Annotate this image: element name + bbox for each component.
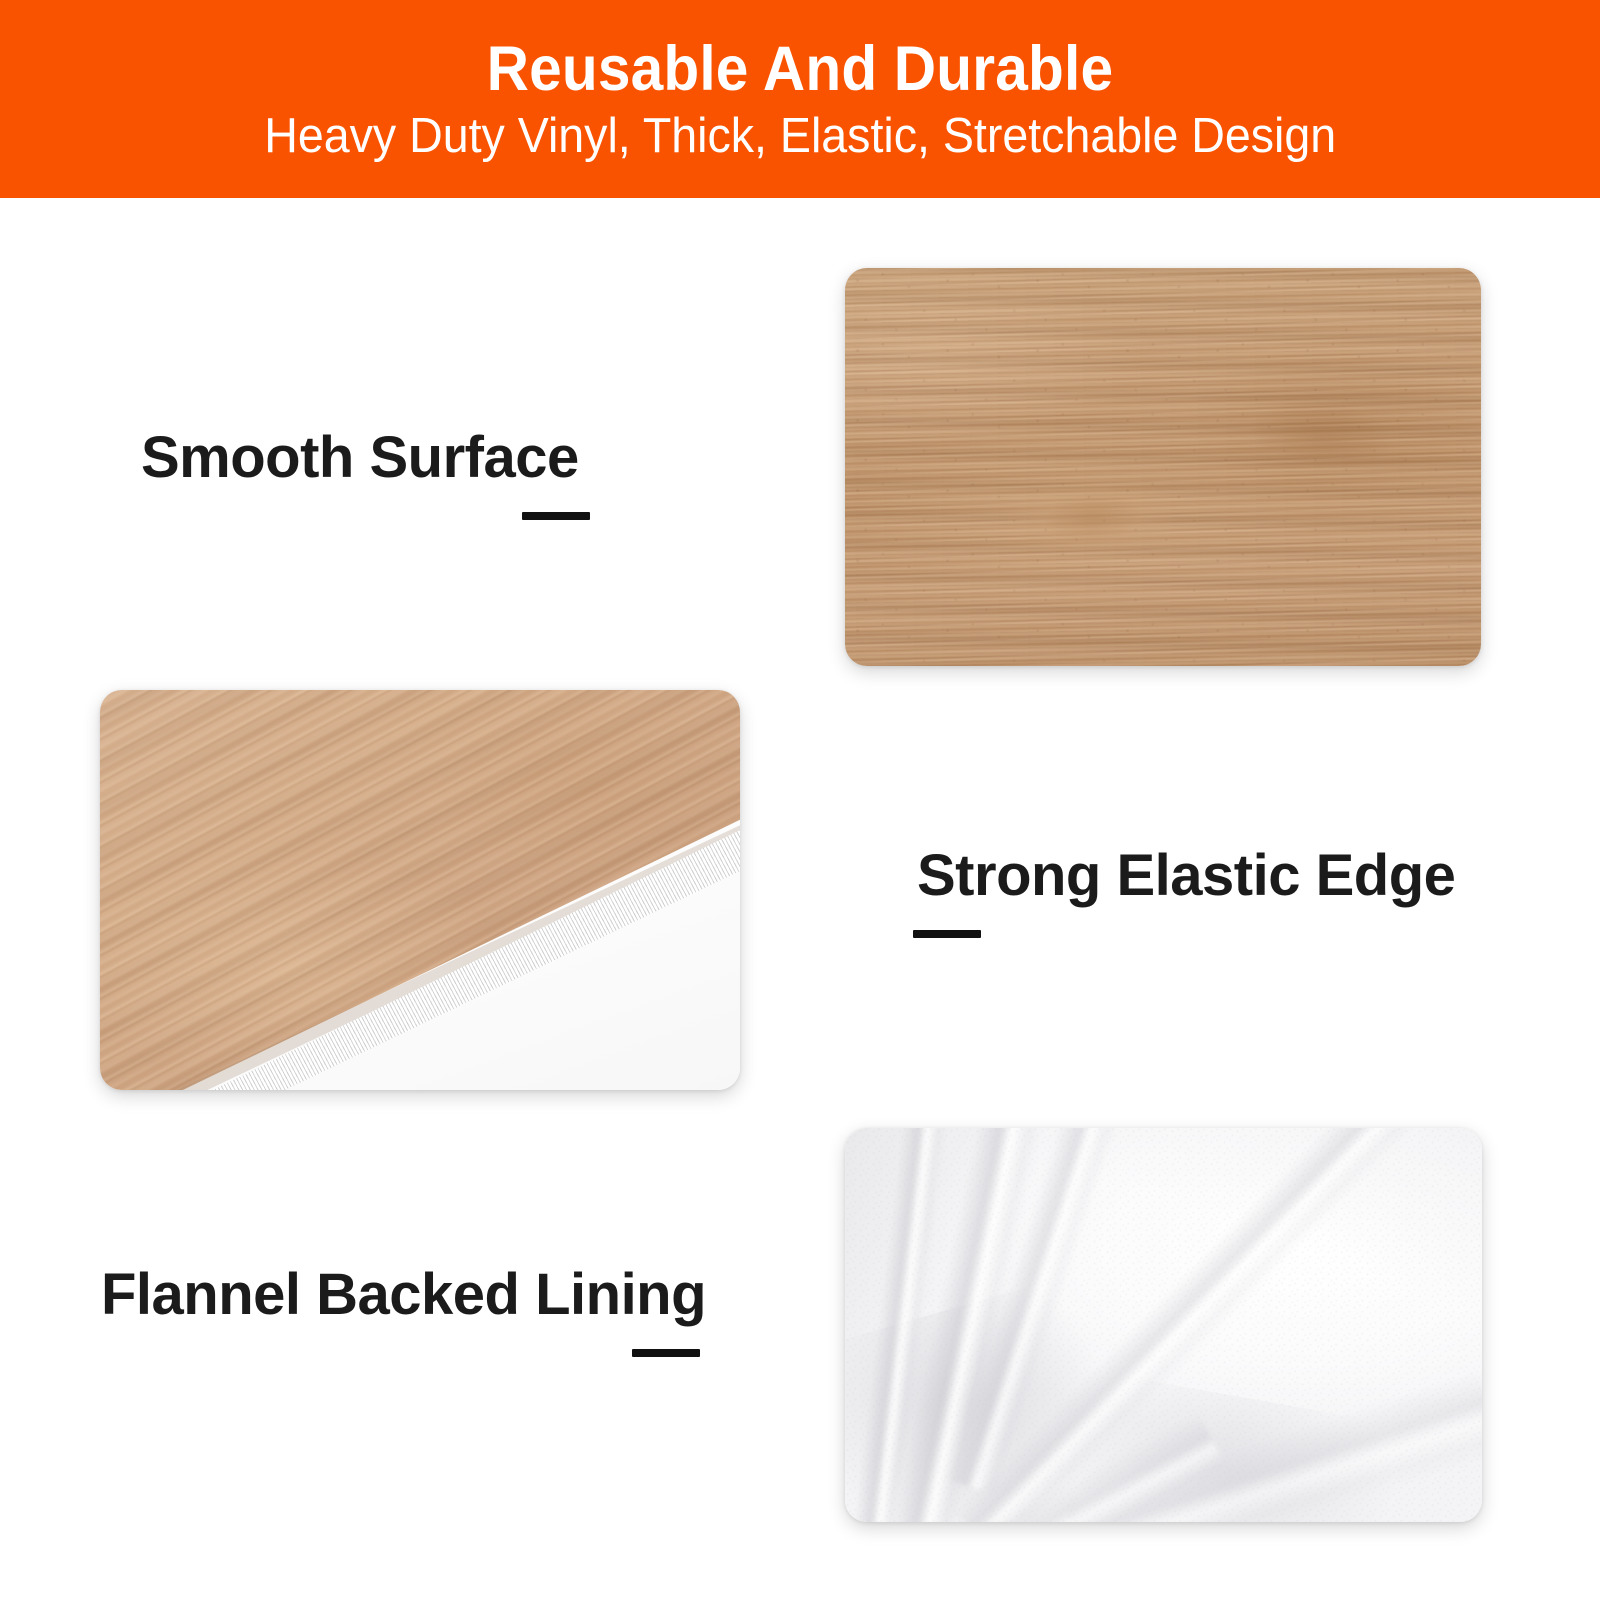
wood-panel-photo <box>845 268 1481 666</box>
wood-speckle-overlay <box>845 268 1481 666</box>
feature-dash-strong-elastic-edge <box>913 930 981 938</box>
flannel-lining-image <box>845 1128 1482 1522</box>
banner-subtitle: Heavy Duty Vinyl, Thick, Elastic, Stretc… <box>264 108 1336 166</box>
feature-dash-smooth-surface <box>522 512 590 520</box>
header-banner: Reusable And Durable Heavy Duty Vinyl, T… <box>0 0 1600 198</box>
flannel-lining-photo <box>845 1128 1482 1522</box>
banner-title: Reusable And Durable <box>487 36 1114 103</box>
elastic-edge-image <box>100 690 740 1090</box>
feature-label-smooth-surface: Smooth Surface <box>141 429 579 487</box>
feature-dash-flannel-backed-lining <box>632 1349 700 1357</box>
flannel-nap-texture <box>845 1128 1482 1522</box>
wood-panel-image <box>845 268 1481 666</box>
feature-label-flannel-backed-lining: Flannel Backed Lining <box>101 1266 706 1324</box>
elastic-edge-photo <box>100 690 740 1090</box>
feature-label-strong-elastic-edge: Strong Elastic Edge <box>917 847 1455 905</box>
